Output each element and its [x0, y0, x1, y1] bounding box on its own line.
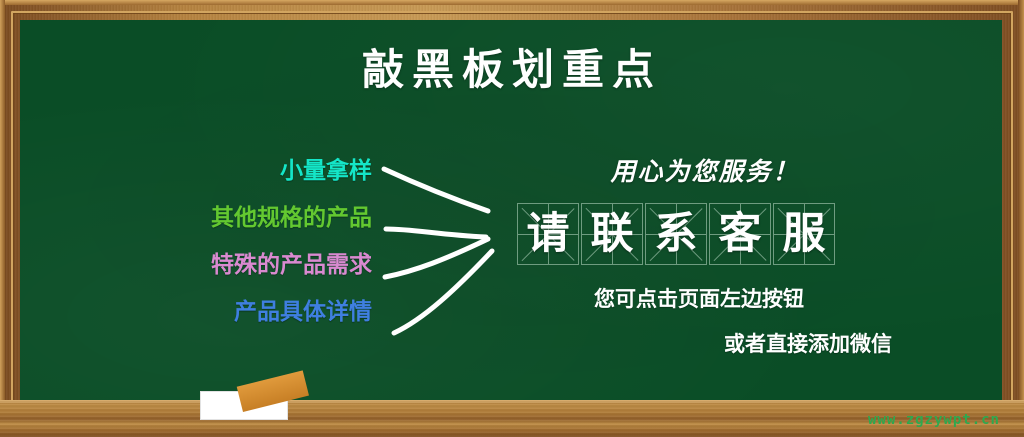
topic-item-3: 特殊的产品需求	[110, 242, 372, 289]
tianzige-char: 系	[646, 204, 706, 264]
tianzige-cell-3: 系	[645, 203, 707, 265]
pointer-line-2	[386, 229, 486, 237]
topic-item-1: 小量拿样	[110, 148, 372, 195]
tianzige-char: 请	[518, 204, 578, 264]
pointer-line-4	[394, 251, 492, 333]
tianzige-cell-5: 服	[773, 203, 835, 265]
tianzige-cell-1: 请	[517, 203, 579, 265]
blackboard-banner: 敲黑板划重点 小量拿样 其他规格的产品 特殊的产品需求 产品具体详情 用心为您服…	[0, 0, 1024, 437]
topic-item-4: 产品具体详情	[110, 289, 372, 336]
tianzige-cell-2: 联	[581, 203, 643, 265]
instruction-note-2: 或者直接添加微信	[724, 328, 892, 358]
tianzige-grid-row: 请 联 系 客 服	[517, 203, 835, 265]
instruction-note-1: 您可点击页面左边按钮	[594, 283, 804, 313]
tianzige-char: 客	[710, 204, 770, 264]
topic-item-2: 其他规格的产品	[110, 195, 372, 242]
tianzige-cell-4: 客	[709, 203, 771, 265]
frame-top-highlight	[0, 0, 1024, 5]
tianzige-char: 服	[774, 204, 834, 264]
board-title: 敲黑板划重点	[0, 36, 1024, 97]
pointer-line-1	[384, 169, 488, 211]
watermark: www.zgzywpt.cn	[868, 412, 1000, 428]
service-slogan: 用心为您服务！	[540, 152, 870, 188]
tianzige-char: 联	[582, 204, 642, 264]
topic-list: 小量拿样 其他规格的产品 特殊的产品需求 产品具体详情	[110, 148, 372, 336]
chalk-pointer-lines	[380, 155, 520, 345]
